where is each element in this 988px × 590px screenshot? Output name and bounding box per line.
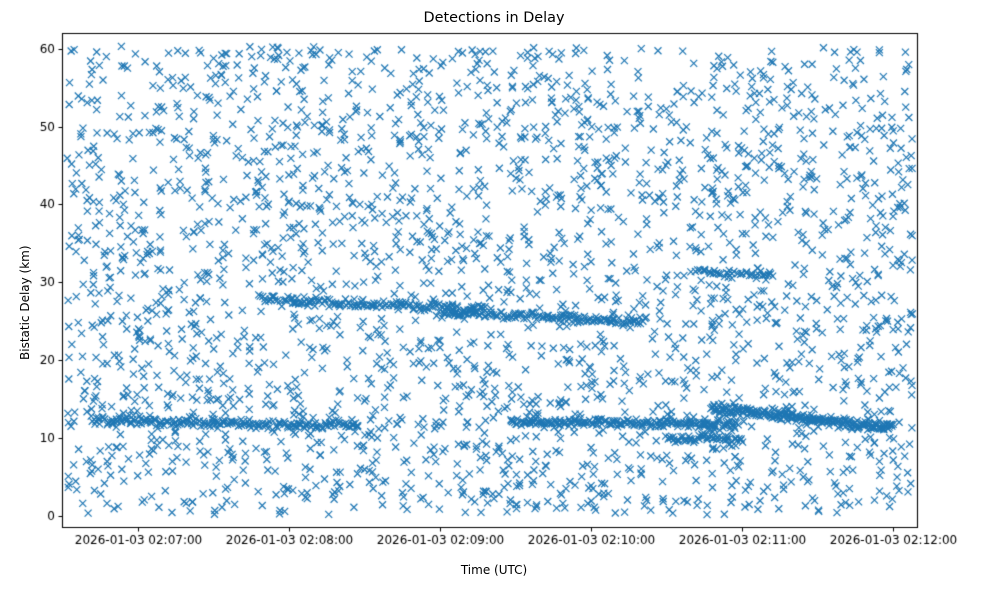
scatter-plot-canvas[interactable] [0, 0, 988, 590]
figure-canvas-root: Detections in Delay Time (UTC) Bistatic … [0, 0, 988, 590]
